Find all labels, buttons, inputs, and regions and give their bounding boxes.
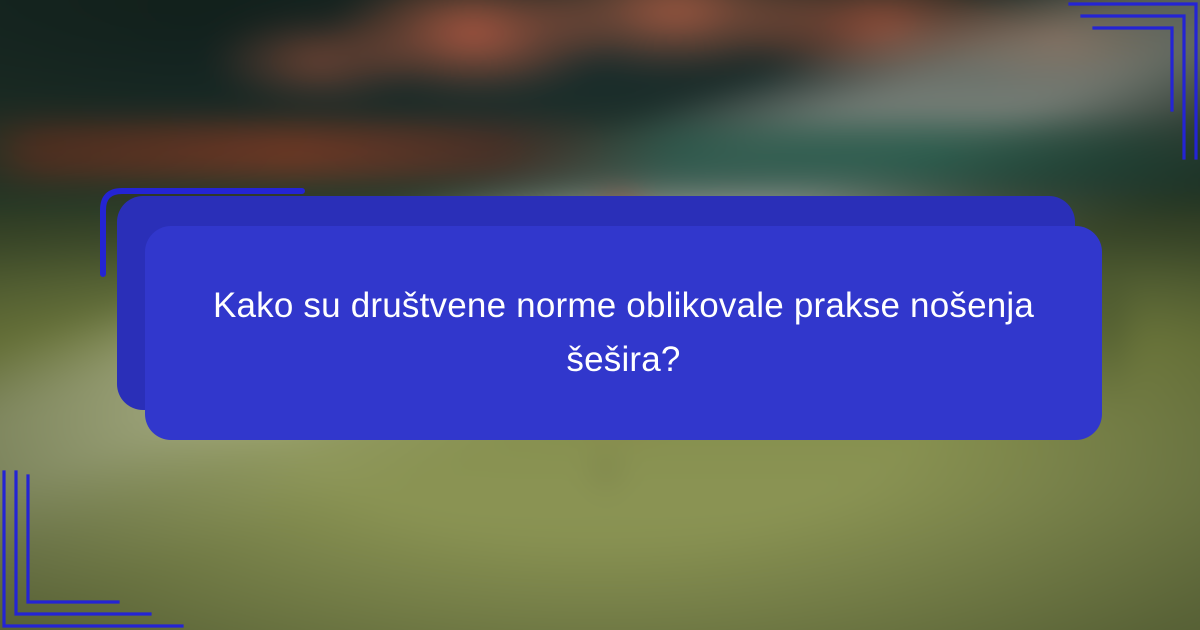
quote-card-graphic: Kako su društvene norme oblikovale praks…: [0, 0, 1200, 630]
card-text-area: Kako su društvene norme oblikovale praks…: [145, 226, 1102, 440]
question-text: Kako su društvene norme oblikovale praks…: [205, 279, 1042, 388]
quote-card: Kako su društvene norme oblikovale praks…: [0, 0, 1200, 630]
